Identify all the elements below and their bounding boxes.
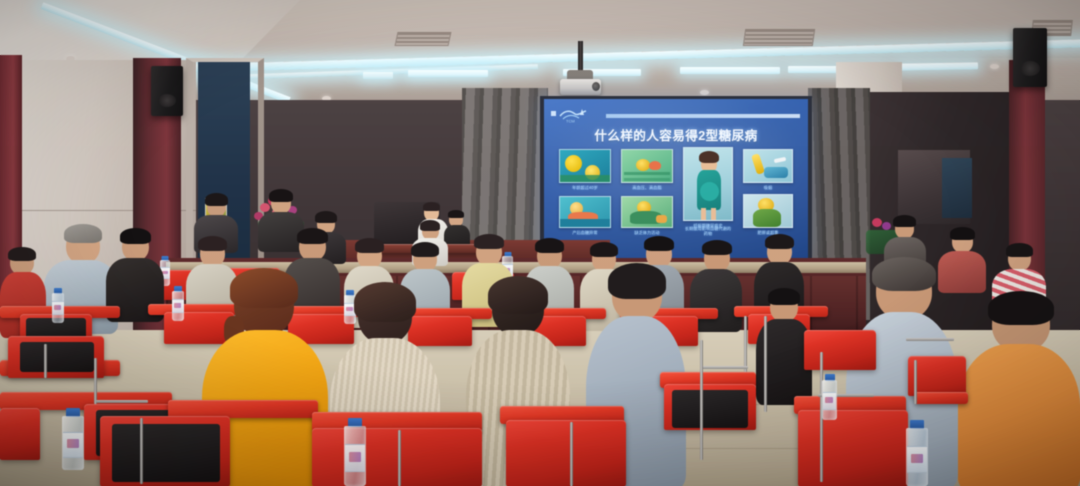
auditorium-chair[interactable]: [312, 428, 482, 486]
projector-mount-pole: [578, 41, 583, 73]
chrome-chair-leg: [398, 430, 401, 486]
slide-card: 高血压、高血脂: [621, 149, 673, 190]
slide-title-rule: [606, 114, 800, 118]
wall-speaker-right: [1013, 28, 1047, 87]
ceiling-tube-light: [408, 70, 488, 77]
water-bottle[interactable]: [822, 374, 837, 420]
slide-card-grid: 年龄超过40岁 高血压、高血脂: [555, 149, 797, 246]
presenter-brand-logo: TCM: [558, 107, 602, 123]
ceiling-tube-light: [898, 62, 978, 70]
chrome-chair-brace: [96, 400, 148, 403]
slide-card-caption: 年龄超过40岁: [559, 185, 611, 190]
chair-backrest-pad: [672, 390, 748, 428]
auditorium-chair[interactable]: [506, 420, 626, 486]
slide-card-illustration: [559, 149, 611, 183]
slide-bullet-marker: [551, 111, 556, 116]
slide-card-illustration: [743, 194, 793, 228]
chrome-chair-leg: [914, 360, 917, 404]
chrome-chair-leg: [140, 418, 143, 484]
chrome-chair-brace: [700, 366, 748, 369]
slide-card-illustration: [621, 149, 673, 183]
lecture-hall-photograph: TCM 什么样的人容易得2型糖尿病 年龄超过40岁: [0, 0, 1080, 486]
ceiling-downlight: [700, 90, 709, 95]
projector-lens: [592, 82, 600, 91]
ceiling-downlight: [990, 64, 999, 69]
auditorium-chair[interactable]: [798, 410, 908, 486]
water-bottle[interactable]: [172, 286, 184, 320]
slide-card-caption: 长期服用影响血糖代谢的药物: [683, 226, 733, 237]
wall-speaker-left: [151, 66, 183, 116]
water-bottle[interactable]: [52, 288, 64, 322]
slide-card-illustration: [683, 147, 733, 221]
auditorium-chair[interactable]: [804, 330, 876, 370]
ceiling-air-vent: [395, 32, 452, 46]
slide-card-illustration: [743, 149, 793, 183]
slide-card: 肥胖或超重: [743, 194, 793, 235]
ceiling-tube-light: [680, 67, 780, 74]
water-bottle[interactable]: [62, 408, 84, 470]
attached-tablet-desk[interactable]: [914, 392, 968, 404]
slide-card-caption: 吸烟: [743, 185, 793, 190]
chrome-chair-leg: [44, 344, 47, 378]
chrome-chair-leg: [94, 358, 97, 404]
chair-backrest-pad: [20, 342, 94, 372]
water-bottle[interactable]: [906, 420, 928, 486]
wall-alcove-inner: [942, 158, 972, 218]
chrome-chair-brace: [906, 338, 954, 341]
chrome-chair-leg: [570, 422, 573, 486]
water-bottle[interactable]: [344, 418, 366, 486]
auditorium-chair[interactable]: [0, 408, 40, 460]
slide-card-caption: 高血压、高血脂: [621, 185, 673, 190]
slide-card-illustration: [559, 196, 611, 228]
slide-card: 吸烟: [743, 149, 793, 190]
audience-member: [958, 296, 1080, 486]
slide-card: 妊娠期糖尿病史: [683, 147, 733, 228]
slide-card-caption: 产后血糖异常: [559, 230, 611, 235]
slide-card: 长期服用影响血糖代谢的药物: [683, 224, 733, 237]
ceiling-air-vent: [743, 29, 815, 46]
slide-card: 缺乏体力活动: [621, 196, 673, 235]
chair-backrest-pad: [112, 424, 220, 482]
slide-card: 产后血糖异常: [559, 196, 611, 235]
slide-card-illustration: [621, 196, 673, 228]
chrome-chair-leg: [764, 316, 767, 412]
slide-title: 什么样的人容易得2型糖尿病: [544, 125, 808, 144]
slide-card-caption: 缺乏体力活动: [621, 230, 673, 235]
ceiling-tube-light: [363, 72, 393, 79]
chrome-chair-leg: [700, 340, 703, 460]
chrome-chair-leg: [744, 316, 747, 372]
slide-card: 年龄超过40岁: [559, 149, 611, 190]
svg-text:TCM: TCM: [566, 118, 575, 123]
